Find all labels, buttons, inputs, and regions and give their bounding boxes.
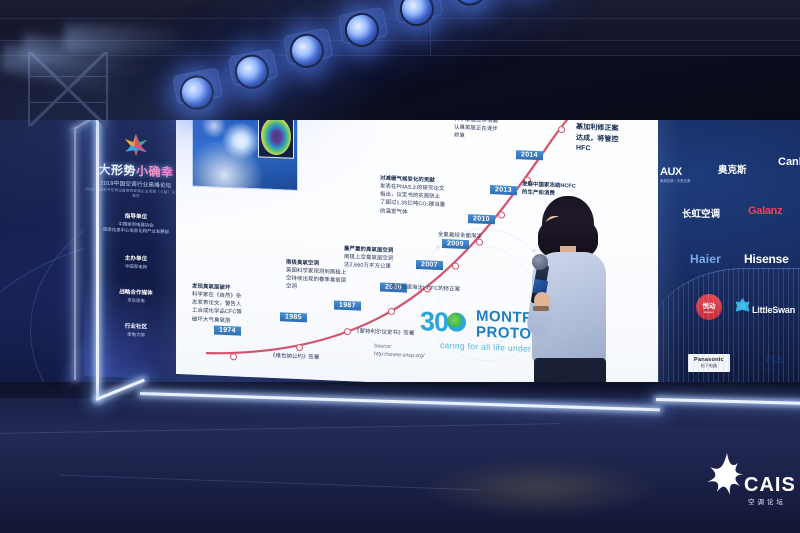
timeline-node-2006 (388, 308, 395, 315)
sponsor-logo-changhong: 长虹空调 (682, 206, 720, 220)
stage-floor (0, 398, 800, 533)
annotation-1974: 发现臭氧层破坏 科学家在《自然》杂 志发表论文，警告人 工合成化学品CFC等 破… (192, 275, 250, 334)
watermark-brand: CAIS (744, 474, 796, 497)
light-beam-3 (64, 25, 194, 53)
timeline-node-2009 (452, 262, 459, 269)
sponsor-logo-aux-cn: 奥克斯 (718, 162, 747, 176)
sponsor-logo-haier: Haier (690, 252, 721, 266)
cais-watermark: CAIS 空调论坛 (700, 452, 792, 518)
sponsor-logo-canbo: Canbo (778, 156, 800, 168)
globe-icon (447, 312, 466, 332)
spotlight-5 (397, 0, 437, 29)
panel-block-guidance: 指导单位 中国家用电器协会 国家信息中心信息化和产业发展部 (84, 210, 188, 237)
annotation-2009: 对减缓气候变化的贡献 发表在PNAS上的研究论文 指出，议定书的实施防止 了超过… (380, 166, 472, 227)
speaker-watch (533, 306, 549, 311)
timeline-node-1974 (230, 353, 237, 360)
sponsor-logo-aux: AUX 家用空调 | 中央空调 (660, 166, 690, 183)
timeline-node-1987 (344, 328, 351, 335)
slide-source: Source: http://ozone.unep.org/ (374, 342, 424, 361)
floor-seam-2 (60, 475, 480, 491)
floor-seam-1 (0, 423, 560, 434)
year-badge-1985: 1985 (280, 312, 307, 322)
venue-ceiling (0, 0, 800, 120)
cais-star-icon (122, 131, 150, 158)
timeline-node-2016 (558, 126, 565, 133)
left-branding-panel: 大形势小确幸 2019中国空调行业高峰论坛 2018 中国制冷空调设备维修安装企… (84, 118, 188, 380)
annotation-2016-caption: 基加利修正案 达成，将管控 HFC (576, 123, 646, 157)
timeline-node-1985 (296, 344, 303, 351)
microphone-head-icon (532, 254, 548, 270)
watermark-subtitle: 空调论坛 (748, 496, 786, 506)
year-badge-2014: 2014 (516, 150, 543, 160)
year-badge-2009: 2009 (442, 239, 469, 249)
sponsor-logo-hisense: Hisense (744, 252, 789, 266)
sponsor-logo-galanz: Galanz (748, 205, 782, 217)
timeline-node-2013 (498, 211, 505, 218)
year-badge-2010: 2010 (468, 214, 495, 224)
spotlight-bar (111, 0, 678, 125)
conference-stage-scene: 大形势 2019 2018 中国空调 CHINA AIR CONDITIONIN… (0, 0, 800, 533)
logo-number-30: 30 (420, 306, 448, 338)
annotation-2006: 最严重的臭氧层空洞 南极上空臭氧层空洞 达2,660万平方公里 (344, 237, 422, 281)
year-badge-2013: 2013 (490, 185, 517, 195)
